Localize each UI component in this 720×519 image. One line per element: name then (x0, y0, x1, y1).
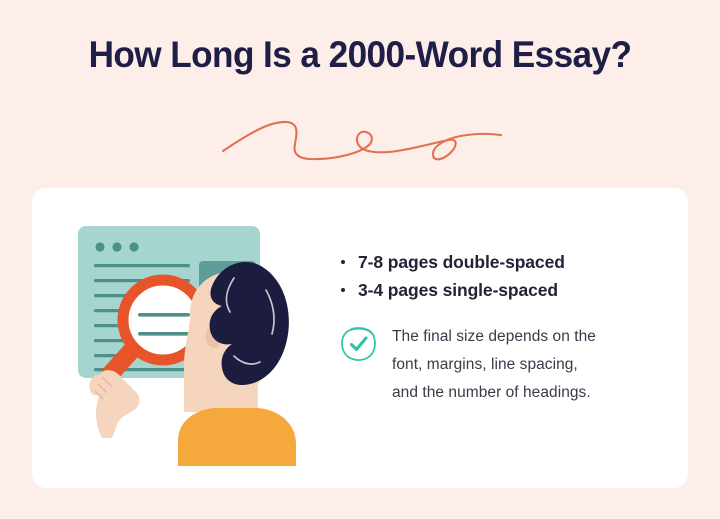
page-title: How Long Is a 2000-Word Essay? (18, 34, 702, 76)
hand-drawn-squiggle-icon (205, 104, 515, 172)
list-item-label: 7-8 pages double-spaced (358, 252, 565, 272)
note-block: The final size depends on the font, marg… (336, 323, 666, 407)
note-line: The final size depends on the (392, 323, 666, 351)
check-circle-icon (339, 325, 379, 363)
hand-icon (89, 370, 139, 438)
note-line: and the number of headings. (392, 379, 666, 407)
window-dots-icon (95, 242, 138, 251)
note-line: font, margins, line spacing, (392, 351, 666, 379)
person-with-magnifying-glass-illustration (62, 216, 314, 466)
list-item-label: 3-4 pages single-spaced (358, 280, 558, 300)
card-content: 7-8 pages double-spaced 3-4 pages single… (336, 248, 666, 407)
person-icon (178, 262, 296, 466)
bullet-dot-icon (341, 260, 345, 264)
bullet-dot-icon (341, 288, 345, 292)
list-item: 3-4 pages single-spaced (336, 276, 666, 304)
list-item: 7-8 pages double-spaced (336, 248, 666, 276)
infographic-root: How Long Is a 2000-Word Essay? (0, 0, 720, 519)
page-count-list: 7-8 pages double-spaced 3-4 pages single… (336, 248, 666, 304)
